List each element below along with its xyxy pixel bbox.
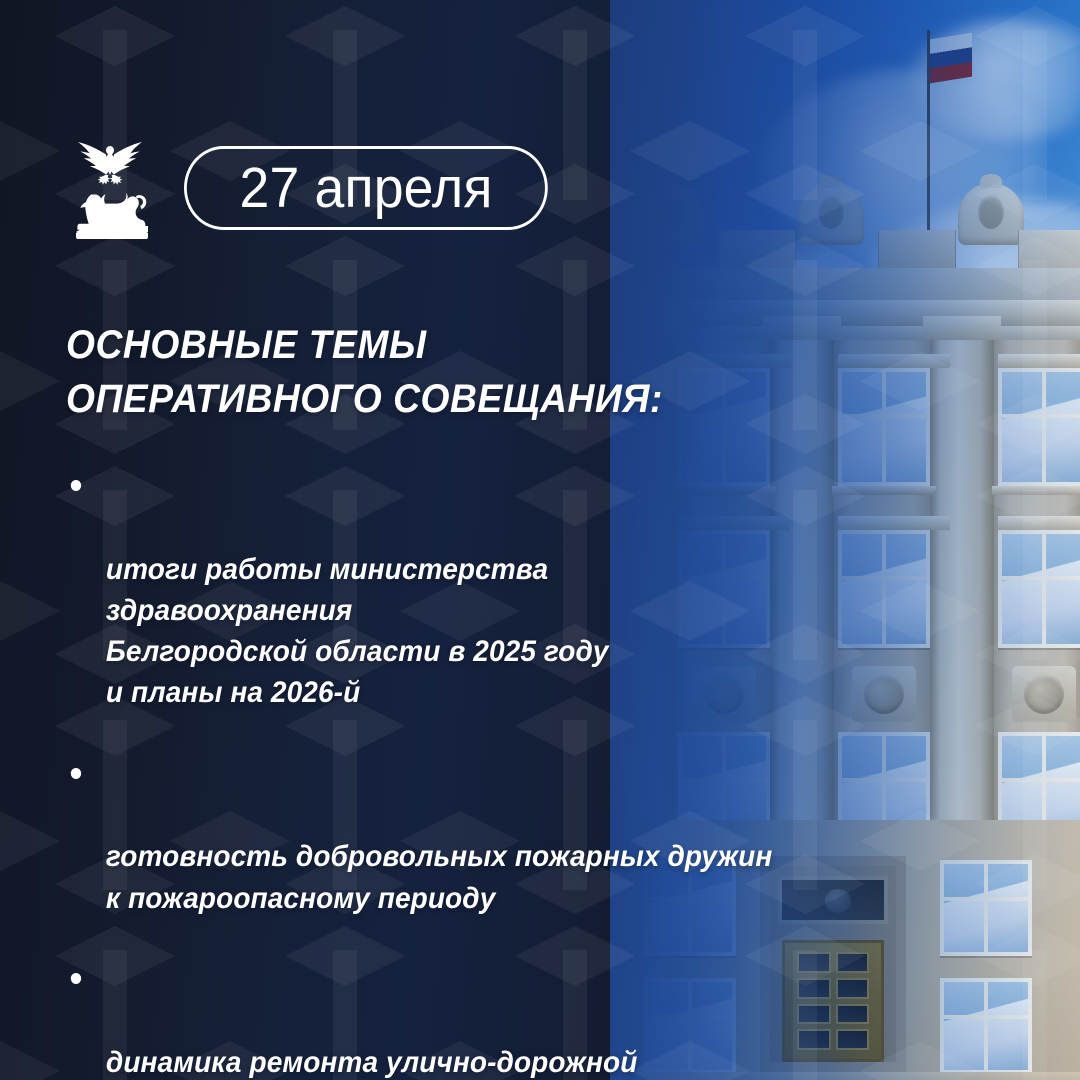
belgorod-coat-of-arms-icon bbox=[62, 132, 158, 244]
header-row: 27 апреля bbox=[62, 132, 571, 244]
page-title: ОСНОВНЫЕ ТЕМЫ ОПЕРАТИВНОГО СОВЕЩАНИЯ: bbox=[66, 318, 663, 427]
bullet-icon bbox=[71, 973, 81, 984]
list-item: готовность добровольных пожарных дружин … bbox=[66, 754, 788, 919]
list-item: итоги работы министерства здравоохранени… bbox=[66, 466, 788, 714]
topics-list: итоги работы министерства здравоохранени… bbox=[66, 466, 826, 1080]
list-item-text: итоги работы министерства здравоохранени… bbox=[106, 553, 609, 710]
bullet-icon bbox=[71, 480, 81, 491]
poster-content: 27 апреля ОСНОВНЫЕ ТЕМЫ ОПЕРАТИВНОГО СОВ… bbox=[0, 0, 1080, 1080]
poster-canvas: 27 апреля ОСНОВНЫЕ ТЕМЫ ОПЕРАТИВНОГО СОВ… bbox=[0, 0, 1080, 1080]
bullet-icon bbox=[71, 768, 81, 779]
date-badge[interactable]: 27 апреля bbox=[184, 146, 548, 230]
list-item-text: готовность добровольных пожарных дружин … bbox=[106, 840, 772, 914]
list-item: динамика ремонта улично-дорожной сети ре… bbox=[66, 959, 788, 1080]
list-item-text: динамика ремонта улично-дорожной сети ре… bbox=[106, 1046, 638, 1080]
date-badge-label: 27 апреля bbox=[239, 160, 492, 217]
